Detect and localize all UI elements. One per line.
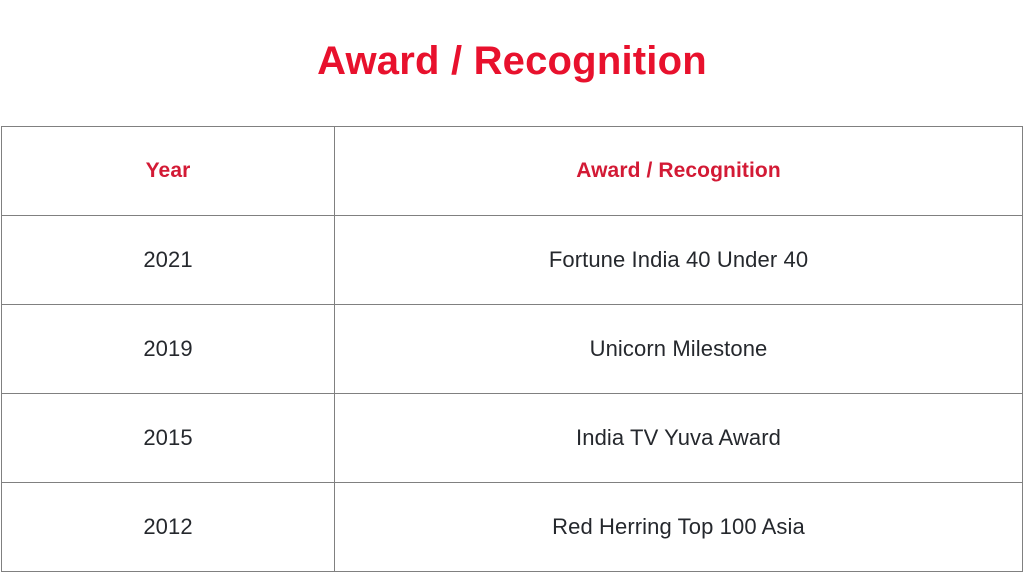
cell-award-value: Unicorn Milestone (335, 336, 1022, 362)
column-header-award-label: Award / Recognition (335, 158, 1022, 183)
cell-year: 2015 (2, 394, 335, 483)
cell-award: Fortune India 40 Under 40 (335, 216, 1023, 305)
cell-year: 2012 (2, 483, 335, 572)
table-header-row: Year Award / Recognition (2, 127, 1023, 216)
table-body: 2021 Fortune India 40 Under 40 2019 Unic… (2, 216, 1023, 572)
cell-award: Red Herring Top 100 Asia (335, 483, 1023, 572)
cell-award-value: India TV Yuva Award (335, 425, 1022, 451)
cell-award-value: Red Herring Top 100 Asia (335, 514, 1022, 540)
cell-year: 2019 (2, 305, 335, 394)
column-header-year-label: Year (2, 158, 334, 183)
cell-year-value: 2015 (2, 425, 334, 451)
award-recognition-page: Award / Recognition Year Award / Recogni… (0, 0, 1024, 569)
award-recognition-table: Year Award / Recognition 2021 Fortune In… (1, 126, 1023, 572)
table-row: 2015 India TV Yuva Award (2, 394, 1023, 483)
cell-year-value: 2012 (2, 514, 334, 540)
cell-year-value: 2021 (2, 247, 334, 273)
cell-award: Unicorn Milestone (335, 305, 1023, 394)
column-header-year: Year (2, 127, 335, 216)
cell-year-value: 2019 (2, 336, 334, 362)
table-header: Year Award / Recognition (2, 127, 1023, 216)
cell-award-value: Fortune India 40 Under 40 (335, 247, 1022, 273)
table-row: 2021 Fortune India 40 Under 40 (2, 216, 1023, 305)
column-header-award: Award / Recognition (335, 127, 1023, 216)
cell-year: 2021 (2, 216, 335, 305)
page-title-container: Award / Recognition (0, 0, 1024, 126)
table-row: 2012 Red Herring Top 100 Asia (2, 483, 1023, 572)
page-title: Award / Recognition (317, 41, 707, 81)
cell-award: India TV Yuva Award (335, 394, 1023, 483)
table-row: 2019 Unicorn Milestone (2, 305, 1023, 394)
